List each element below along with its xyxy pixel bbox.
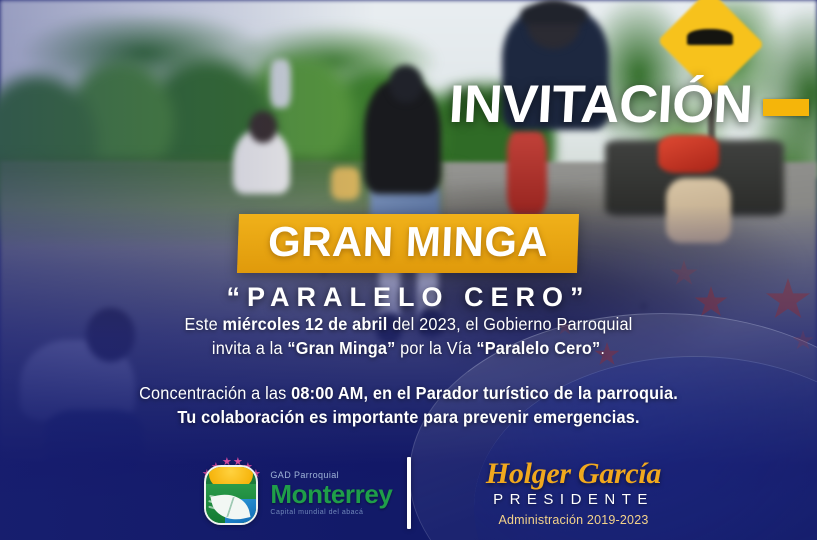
president-name: Holger García xyxy=(486,459,661,489)
body-copy: Este miércoles 12 de abril del 2023, el … xyxy=(0,312,817,429)
p1-text-b: del 2023, el Gobierno Parroquial xyxy=(387,314,632,334)
shield-emblem xyxy=(200,457,262,529)
p1-bold-date: miércoles 12 de abril xyxy=(223,314,388,334)
kicker-label: INVITACIÓN xyxy=(448,78,754,131)
shield-icon xyxy=(204,465,258,525)
president-signature: Holger García PRESIDENTE Administración … xyxy=(411,459,711,527)
p1-text-e: . xyxy=(600,338,605,358)
p1-text-d: por la Vía xyxy=(395,338,476,358)
logo-wordmark: GAD Parroquial Monterrey Capital mundial… xyxy=(270,471,392,516)
p2-bold-callout: Tu colaboración es importante para preve… xyxy=(177,407,639,427)
p2-text-a: Concentración a las xyxy=(139,383,291,403)
kicker-banner: INVITACIÓN xyxy=(452,78,809,131)
paragraph-1-line-1: Este miércoles 12 de abril del 2023, el … xyxy=(29,312,789,336)
p1-text-a: Este xyxy=(185,314,223,334)
page-title: GRAN MINGA xyxy=(237,214,579,273)
p1-text-c: invita a la xyxy=(212,338,288,358)
shield-inner xyxy=(206,467,256,523)
administration-period: Administración 2019-2023 xyxy=(498,513,648,527)
p1-bold-road: “Paralelo Cero” xyxy=(476,338,600,358)
p2-bold-time-place: 08:00 AM, en el Parador turístico de la … xyxy=(291,383,678,403)
footer-bar: GAD Parroquial Monterrey Capital mundial… xyxy=(0,452,817,534)
paragraph-2-line-1: Concentración a las 08:00 AM, en el Para… xyxy=(29,381,789,405)
p1-bold-event: “Gran Minga” xyxy=(287,338,395,358)
gad-logo: GAD Parroquial Monterrey Capital mundial… xyxy=(107,457,407,529)
paragraph-2-line-2: Tu colaboración es importante para preve… xyxy=(29,405,789,429)
paragraph-1-line-2: invita a la “Gran Minga” por la Vía “Par… xyxy=(29,336,789,360)
logo-name: Monterrey xyxy=(270,481,392,507)
logo-tagline: Capital mundial del abacá xyxy=(270,509,392,516)
invitation-poster: INVITACIÓN GRAN MINGA “PARALELO CERO” Es… xyxy=(0,0,817,540)
president-role: PRESIDENTE xyxy=(493,491,654,508)
page-subtitle: “PARALELO CERO” xyxy=(0,282,817,313)
kicker-accent-dash xyxy=(763,99,809,116)
title-group: GRAN MINGA “PARALELO CERO” xyxy=(0,214,817,313)
